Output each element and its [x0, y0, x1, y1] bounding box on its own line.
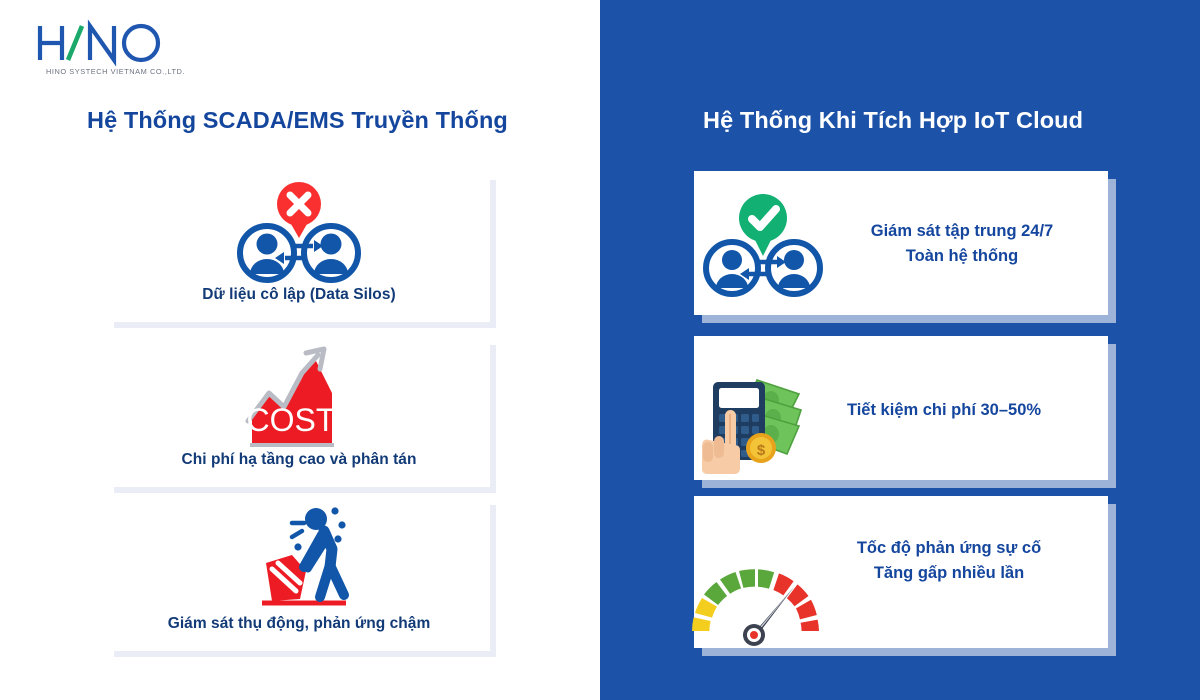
hino-logo-mark	[38, 22, 168, 66]
right-card-cost-savings[interactable]: $ Tiết kiệm chi phí 30–50%	[694, 336, 1108, 480]
svg-text:$: $	[757, 442, 766, 459]
right-card-text: Giám sát tập trung 24/7 Toàn hệ thống	[822, 219, 1102, 269]
right-card-central-monitoring[interactable]: Giám sát tập trung 24/7 Toàn hệ thống	[694, 171, 1108, 315]
right-card-line1: Giám sát tập trung 24/7	[822, 219, 1102, 244]
rising-cost-chart-icon: COST	[108, 345, 490, 450]
two-users-connected-check-icon	[700, 187, 830, 305]
left-card-label: Giám sát thụ động, phản ứng chậm	[108, 615, 490, 633]
left-card-passive-monitoring[interactable]: Giám sát thụ động, phản ứng chậm	[108, 499, 490, 651]
two-users-disconnected-error-icon	[108, 180, 490, 290]
right-card-line2: Tăng gấp nhiều lần	[794, 561, 1104, 586]
person-pushing-block-icon	[108, 505, 490, 613]
right-card-text: Tốc độ phản ứng sự cố Tăng gấp nhiều lần	[794, 536, 1104, 586]
left-card-label: Chi phí hạ tầng cao và phân tán	[108, 451, 490, 469]
left-card-label: Dữ liệu cô lập (Data Silos)	[108, 286, 490, 304]
left-card-infrastructure-cost[interactable]: COST Chi phí hạ tầng cao và phân tán	[108, 339, 490, 487]
infographic-page: HINO SYSTECH VIETNAM CO.,LTD. Hệ Thống S…	[0, 0, 1200, 700]
right-card-text: Tiết kiệm chi phí 30–50%	[794, 398, 1094, 423]
right-card-incident-response[interactable]: Tốc độ phản ứng sự cố Tăng gấp nhiều lần	[694, 496, 1108, 648]
right-card-line1: Tốc độ phản ứng sự cố	[794, 536, 1104, 561]
cost-icon-text: COST	[247, 402, 336, 438]
left-panel-heading: Hệ Thống SCADA/EMS Truyền Thống	[87, 107, 508, 134]
logo-subtitle: HINO SYSTECH VIETNAM CO.,LTD.	[46, 67, 258, 76]
right-card-line2: Toàn hệ thống	[822, 244, 1102, 269]
right-panel-heading: Hệ Thống Khi Tích Hợp IoT Cloud	[703, 107, 1083, 134]
company-logo: HINO SYSTECH VIETNAM CO.,LTD.	[38, 22, 258, 76]
right-card-line1: Tiết kiệm chi phí 30–50%	[794, 398, 1094, 423]
left-card-data-silos[interactable]: Dữ liệu cô lập (Data Silos)	[108, 174, 490, 322]
